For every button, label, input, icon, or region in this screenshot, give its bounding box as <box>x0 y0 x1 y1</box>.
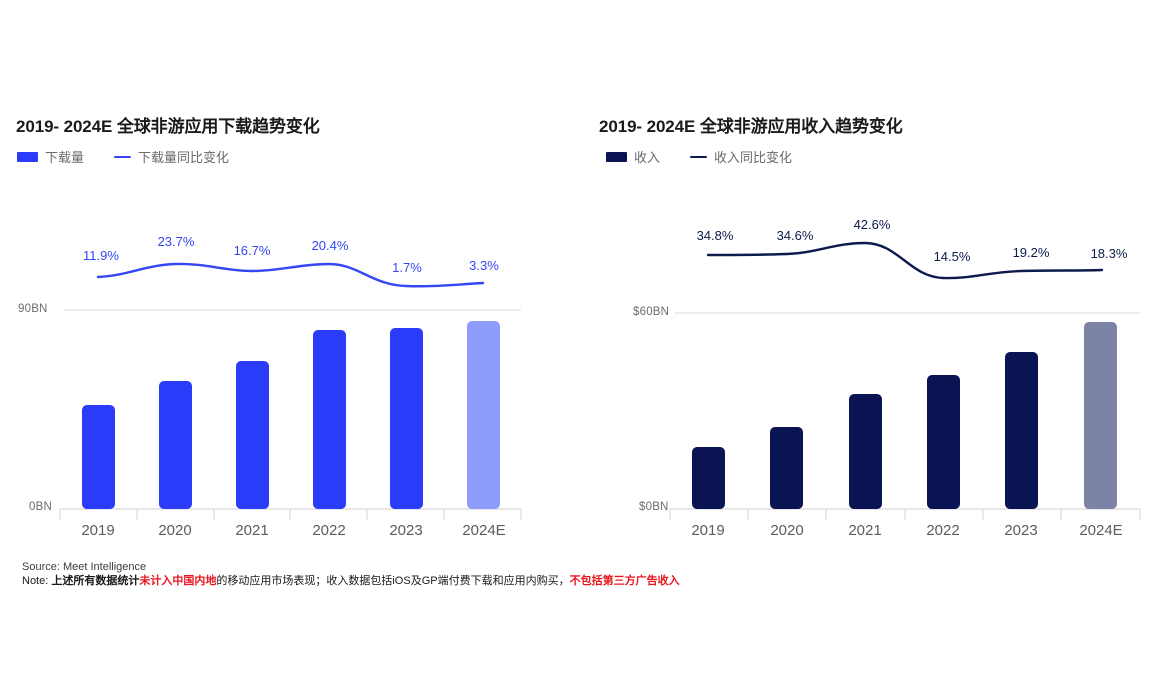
legend-item-downloads-yoy[interactable]: 下载量同比变化 <box>114 147 229 166</box>
point-label-2024e: 3.3% <box>469 258 499 273</box>
bar-2020 <box>770 427 803 509</box>
y-axis-max-label: $60BN <box>633 306 669 318</box>
footnote: Source: Meet Intelligence Note: 上述所有数据统计… <box>22 560 680 588</box>
point-label-2024e: 18.3% <box>1091 246 1128 261</box>
legend: 下载量 下载量同比变化 <box>17 147 229 166</box>
x-tick-2023: 2023 <box>1004 522 1037 539</box>
legend-label: 下载量同比变化 <box>138 147 229 166</box>
bar-2023 <box>1005 352 1038 509</box>
footnote-note-seg1: 上述所有数据统计 <box>51 575 139 587</box>
legend-label: 收入同比变化 <box>714 147 792 166</box>
page-title: 2019- 2024E 全球非游应用下载趋势变化 <box>16 112 320 137</box>
point-label-2022: 20.4% <box>312 238 349 253</box>
bar-2024e <box>467 321 500 509</box>
x-tick-2019: 2019 <box>81 522 114 539</box>
legend-item-downloads[interactable]: 下载量 <box>17 147 84 166</box>
bar-2024e <box>1084 322 1117 509</box>
bar-2021 <box>849 394 882 509</box>
x-tick-2019: 2019 <box>691 522 724 539</box>
x-tick-2022: 2022 <box>312 522 345 539</box>
point-label-2021: 16.7% <box>234 243 271 258</box>
bar-2023 <box>390 328 423 509</box>
point-label-2019: 34.8% <box>697 228 734 243</box>
bar-2019 <box>692 447 725 509</box>
point-label-2020: 23.7% <box>158 234 195 249</box>
x-tick-2023: 2023 <box>389 522 422 539</box>
x-tick-2021: 2021 <box>235 522 268 539</box>
bar-2022 <box>313 330 346 509</box>
bar-2021 <box>236 361 269 509</box>
x-tick-2024e: 2024E <box>1079 522 1122 539</box>
x-tick-2020: 2020 <box>158 522 191 539</box>
point-label-2022: 14.5% <box>934 249 971 264</box>
x-tick-2021: 2021 <box>848 522 881 539</box>
legend: 收入 收入同比变化 <box>606 147 792 166</box>
legend-item-revenue[interactable]: 收入 <box>606 147 660 166</box>
x-tick-2024e: 2024E <box>462 522 505 539</box>
legend-item-revenue-yoy[interactable]: 收入同比变化 <box>690 147 792 166</box>
bar-2022 <box>927 375 960 509</box>
footnote-note: Note: 上述所有数据统计未计入中国内地的移动应用市场表现；收入数据包括iOS… <box>22 574 680 588</box>
point-label-2023: 1.7% <box>392 260 422 275</box>
footnote-note-prefix: Note: <box>22 575 51 587</box>
point-label-2021: 42.6% <box>854 217 891 232</box>
y-axis-min-label: $0BN <box>639 501 669 513</box>
legend-line-icon <box>114 156 131 158</box>
footnote-note-highlight-2: 不包括第三方广告收入 <box>570 575 680 587</box>
x-tick-2022: 2022 <box>926 522 959 539</box>
x-tick-2020: 2020 <box>770 522 803 539</box>
bar-2020 <box>159 381 192 509</box>
bar-2019 <box>82 405 115 509</box>
legend-line-icon <box>690 156 707 158</box>
point-label-2020: 34.6% <box>777 228 814 243</box>
footnote-note-seg2: 的移动应用市场表现；收入数据包括iOS及GP端付费下载和应用内购买， <box>216 575 569 587</box>
point-label-2023: 19.2% <box>1013 245 1050 260</box>
page-title: 2019- 2024E 全球非游应用收入趋势变化 <box>599 112 903 137</box>
legend-label: 收入 <box>634 147 660 166</box>
point-label-2019: 11.9% <box>83 248 119 263</box>
legend-swatch-icon <box>606 152 627 162</box>
legend-swatch-icon <box>17 152 38 162</box>
y-axis-max-label: 90BN <box>18 303 48 315</box>
footnote-note-highlight-1: 未计入中国内地 <box>139 575 216 587</box>
legend-label: 下载量 <box>45 147 84 166</box>
footnote-source: Source: Meet Intelligence <box>22 560 680 574</box>
y-axis-min-label: 0BN <box>29 501 52 513</box>
